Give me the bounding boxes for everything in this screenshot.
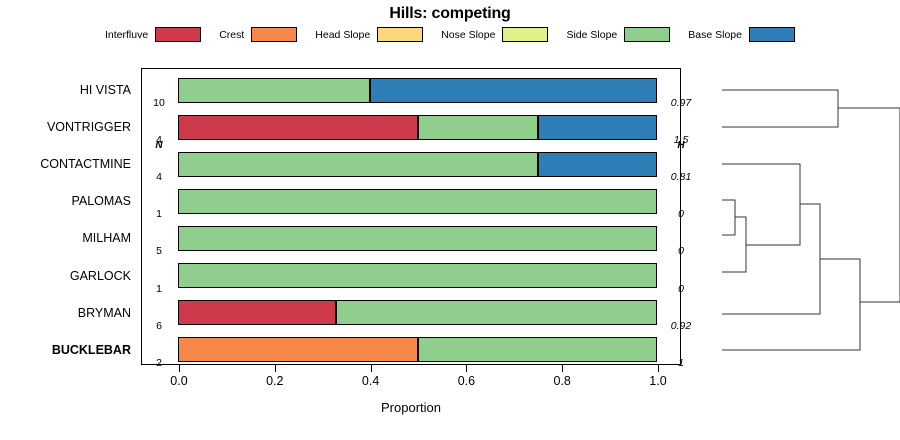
n-value: 4 [141, 134, 177, 146]
bar-segment[interactable] [178, 152, 537, 177]
legend: InterfluveCrestHead SlopeNose SlopeSide … [0, 27, 900, 42]
dendro-join-hivista-vontrigger [722, 90, 838, 127]
bar-segment[interactable] [178, 263, 657, 288]
x-tick-mark [275, 365, 276, 372]
x-tick-mark [562, 365, 563, 372]
x-axis: 0.00.20.40.60.81.0 [141, 365, 681, 395]
x-axis-label: Proportion [141, 400, 681, 415]
legend-label: Nose Slope [441, 29, 495, 41]
legend-swatch [624, 27, 670, 42]
dendro-join-with-contactmine [722, 164, 800, 245]
bar-segment[interactable] [178, 226, 657, 251]
bar-segment[interactable] [178, 115, 418, 140]
x-tick-mark [658, 365, 659, 372]
x-tick-label: 0.4 [362, 374, 379, 388]
x-tick-label: 1.0 [649, 374, 666, 388]
page-title: Hills: competing [0, 5, 900, 23]
legend-label: Base Slope [688, 29, 742, 41]
legend-entry: Interfluve [105, 27, 201, 42]
legend-swatch [749, 27, 795, 42]
x-tick-label: 0.0 [170, 374, 187, 388]
category-label: VONTRIGGER [47, 120, 131, 134]
bar-row[interactable] [179, 300, 658, 325]
bar-row[interactable] [179, 263, 658, 288]
bar-row[interactable] [179, 226, 658, 251]
category-label: HI VISTA [80, 83, 131, 97]
x-tick-label: 0.2 [266, 374, 283, 388]
x-tick-mark [179, 365, 180, 372]
category-label: CONTACTMINE [40, 157, 131, 171]
dendro-join-palomas-milham [722, 200, 735, 235]
bar-row[interactable] [179, 115, 658, 140]
bar-row[interactable] [179, 78, 658, 103]
category-label: BUCKLEBAR [52, 343, 131, 357]
dendro-join-with-garlock [722, 217, 746, 272]
legend-entry: Nose Slope [441, 27, 548, 42]
legend-swatch [155, 27, 201, 42]
legend-swatch [251, 27, 297, 42]
legend-label: Side Slope [566, 29, 617, 41]
legend-swatch [502, 27, 548, 42]
bar-segment[interactable] [538, 152, 658, 177]
dendrogram-svg [690, 60, 900, 380]
dendro-join-with-bryman [722, 204, 820, 314]
category-axis: HI VISTAVONTRIGGERCONTACTMINEPALOMASMILH… [0, 68, 136, 365]
bar-segment[interactable] [370, 78, 657, 103]
legend-entry: Side Slope [566, 27, 670, 42]
dendrogram [690, 60, 900, 380]
bar-segment[interactable] [178, 337, 418, 362]
category-label: BRYMAN [78, 306, 131, 320]
bar-segment[interactable] [178, 189, 657, 214]
bar-row[interactable] [179, 189, 658, 214]
bar-segment[interactable] [538, 115, 658, 140]
category-label: GARLOCK [70, 269, 131, 283]
n-value: 5 [141, 245, 177, 257]
dendro-join-with-bucklebar [722, 259, 860, 350]
legend-swatch [377, 27, 423, 42]
legend-label: Head Slope [315, 29, 370, 41]
bar-segment[interactable] [178, 78, 370, 103]
x-tick-label: 0.8 [553, 374, 570, 388]
n-value: 10 [141, 97, 177, 109]
bar-row[interactable] [179, 152, 658, 177]
n-value: 4 [141, 171, 177, 183]
legend-entry: Base Slope [688, 27, 795, 42]
bar-segment[interactable] [178, 300, 336, 325]
n-value: 1 [141, 283, 177, 295]
bar-segment[interactable] [418, 337, 658, 362]
n-value: 1 [141, 208, 177, 220]
legend-entry: Head Slope [315, 27, 423, 42]
bar-segment[interactable] [336, 300, 657, 325]
n-column: N 104415162 [141, 68, 177, 365]
legend-label: Crest [219, 29, 244, 41]
category-label: PALOMAS [71, 194, 131, 208]
x-tick-label: 0.6 [458, 374, 475, 388]
x-tick-mark [466, 365, 467, 372]
legend-label: Interfluve [105, 29, 148, 41]
x-tick-mark [371, 365, 372, 372]
bar-segment[interactable] [418, 115, 538, 140]
bar-row[interactable] [179, 337, 658, 362]
category-label: MILHAM [82, 231, 131, 245]
dendro-join-root [838, 108, 900, 302]
legend-entry: Crest [219, 27, 297, 42]
n-value: 6 [141, 320, 177, 332]
